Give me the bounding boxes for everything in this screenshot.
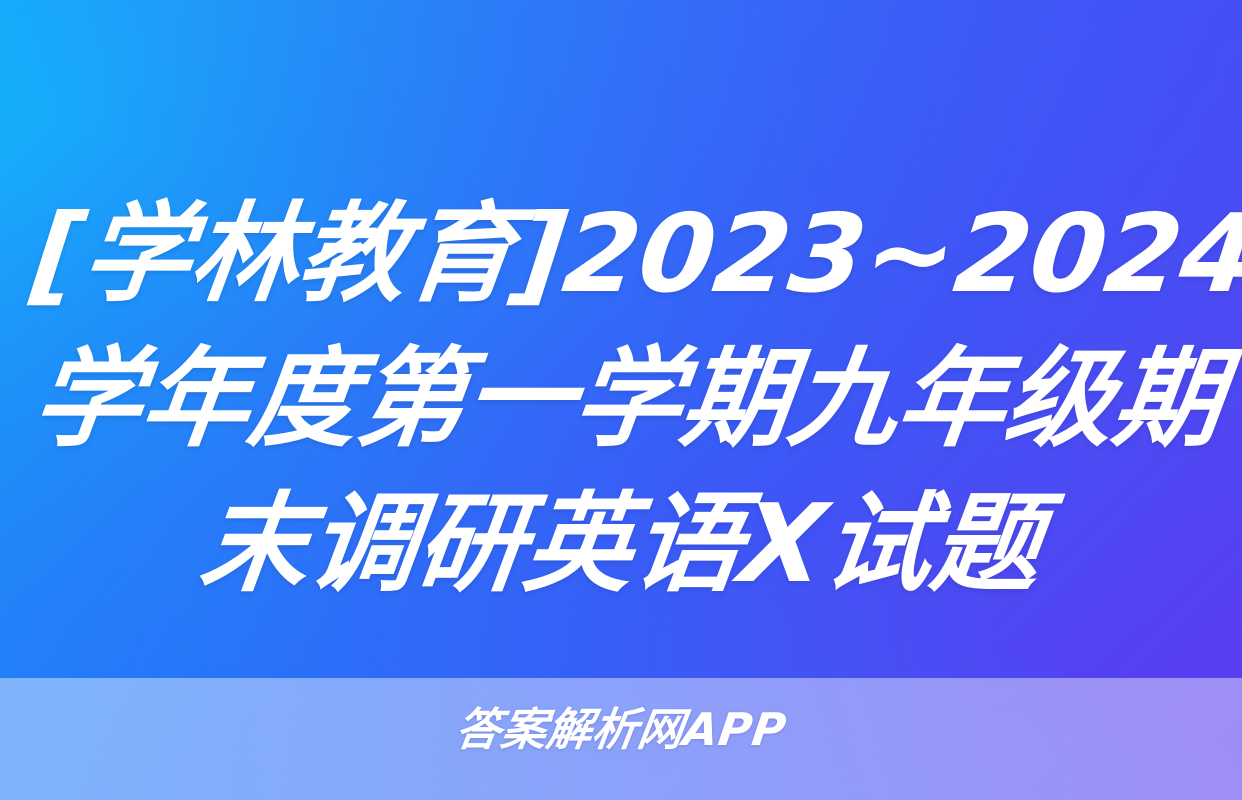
title-line-3: 末调研英语X试题 — [25, 472, 1217, 617]
watermark-band: 答案解析网APP — [0, 678, 1242, 800]
title-line-1: [学林教育]2023~2024 — [25, 182, 1217, 327]
exam-cover-card: [学林教育]2023~2024 学年度第一学期九年级期 末调研英语X试题 答案解… — [0, 0, 1242, 800]
watermark-label: 答案解析网APP — [452, 704, 789, 756]
page-title: [学林教育]2023~2024 学年度第一学期九年级期 末调研英语X试题 — [0, 182, 1242, 617]
title-line-2: 学年度第一学期九年级期 — [25, 327, 1217, 472]
